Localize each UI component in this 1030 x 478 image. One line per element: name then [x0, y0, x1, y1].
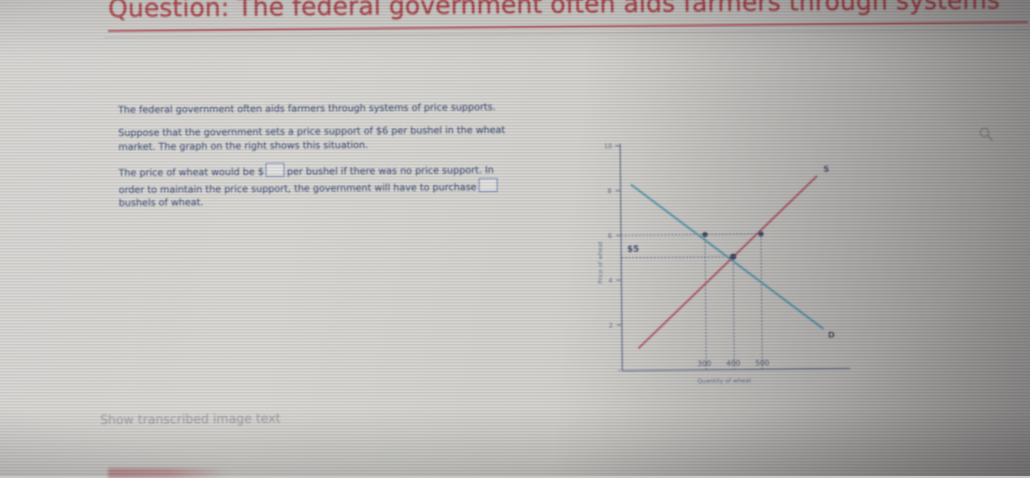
y-tick-label-10: 10: [604, 143, 612, 150]
guide-quantity-400: [733, 257, 734, 370]
screen-content: Question: The federal government often a…: [0, 0, 1030, 476]
point-quantity-supplied-500: [758, 231, 763, 236]
x-tick-label-500: 500: [755, 358, 769, 367]
point-equilibrium-400: [730, 253, 736, 259]
demand-curve: [632, 183, 823, 330]
supply-demand-chart: 2 4 6 8 10 S D: [592, 129, 862, 390]
guide-price-support-6: [621, 234, 761, 235]
y-tick-label-4: 4: [608, 278, 612, 285]
y-tick-label-2: 2: [609, 322, 613, 329]
question-body: The federal government often aids farmer…: [118, 101, 519, 221]
question-paragraph-3-part-a: The price of wheat would be $: [119, 167, 264, 179]
screen-surface: Question: The federal government often a…: [0, 0, 1030, 476]
question-paragraph-1: The federal government often aids farmer…: [118, 101, 518, 118]
y-tick-label-8: 8: [608, 188, 612, 195]
x-axis-title: Quantity of wheat: [697, 377, 752, 385]
x-tick-label-300: 300: [697, 359, 711, 368]
point-quantity-demanded-300: [702, 232, 707, 237]
page-title: Question: The federal government often a…: [108, 0, 1030, 23]
question-paragraph-2: Suppose that the government sets a price…: [118, 124, 518, 154]
question-paragraph-3: The price of wheat would be $per bushel …: [118, 161, 518, 210]
guide-equilibrium-price-5: [621, 257, 733, 258]
y-axis-title: Price of wheat: [597, 241, 604, 284]
y-axis: [620, 144, 622, 371]
question-paragraph-3-part-c: bushels of wheat.: [119, 197, 204, 209]
show-transcribed-image-text-link[interactable]: Show transcribed image text: [100, 410, 281, 427]
guide-quantity-500: [761, 234, 762, 369]
x-axis-ticks: 300 400 500: [697, 358, 769, 368]
y-axis-ticks: 2 4 6 8 10: [604, 143, 622, 329]
magnifier-icon[interactable]: [978, 126, 994, 142]
answer-input-price[interactable]: [266, 163, 285, 177]
supply-curve: [637, 177, 818, 348]
guide-quantity-300: [705, 235, 706, 370]
price-annotation-5: $5: [627, 245, 639, 255]
x-tick-label-400: 400: [726, 359, 740, 368]
y-tick-label-6: 6: [608, 233, 612, 240]
bottom-cutoff-fragment: [108, 468, 228, 478]
supply-curve-label: S: [823, 164, 829, 174]
demand-curve-label: D: [828, 330, 835, 340]
answer-input-quantity[interactable]: [478, 178, 497, 192]
chart-guide-lines: [621, 234, 762, 371]
